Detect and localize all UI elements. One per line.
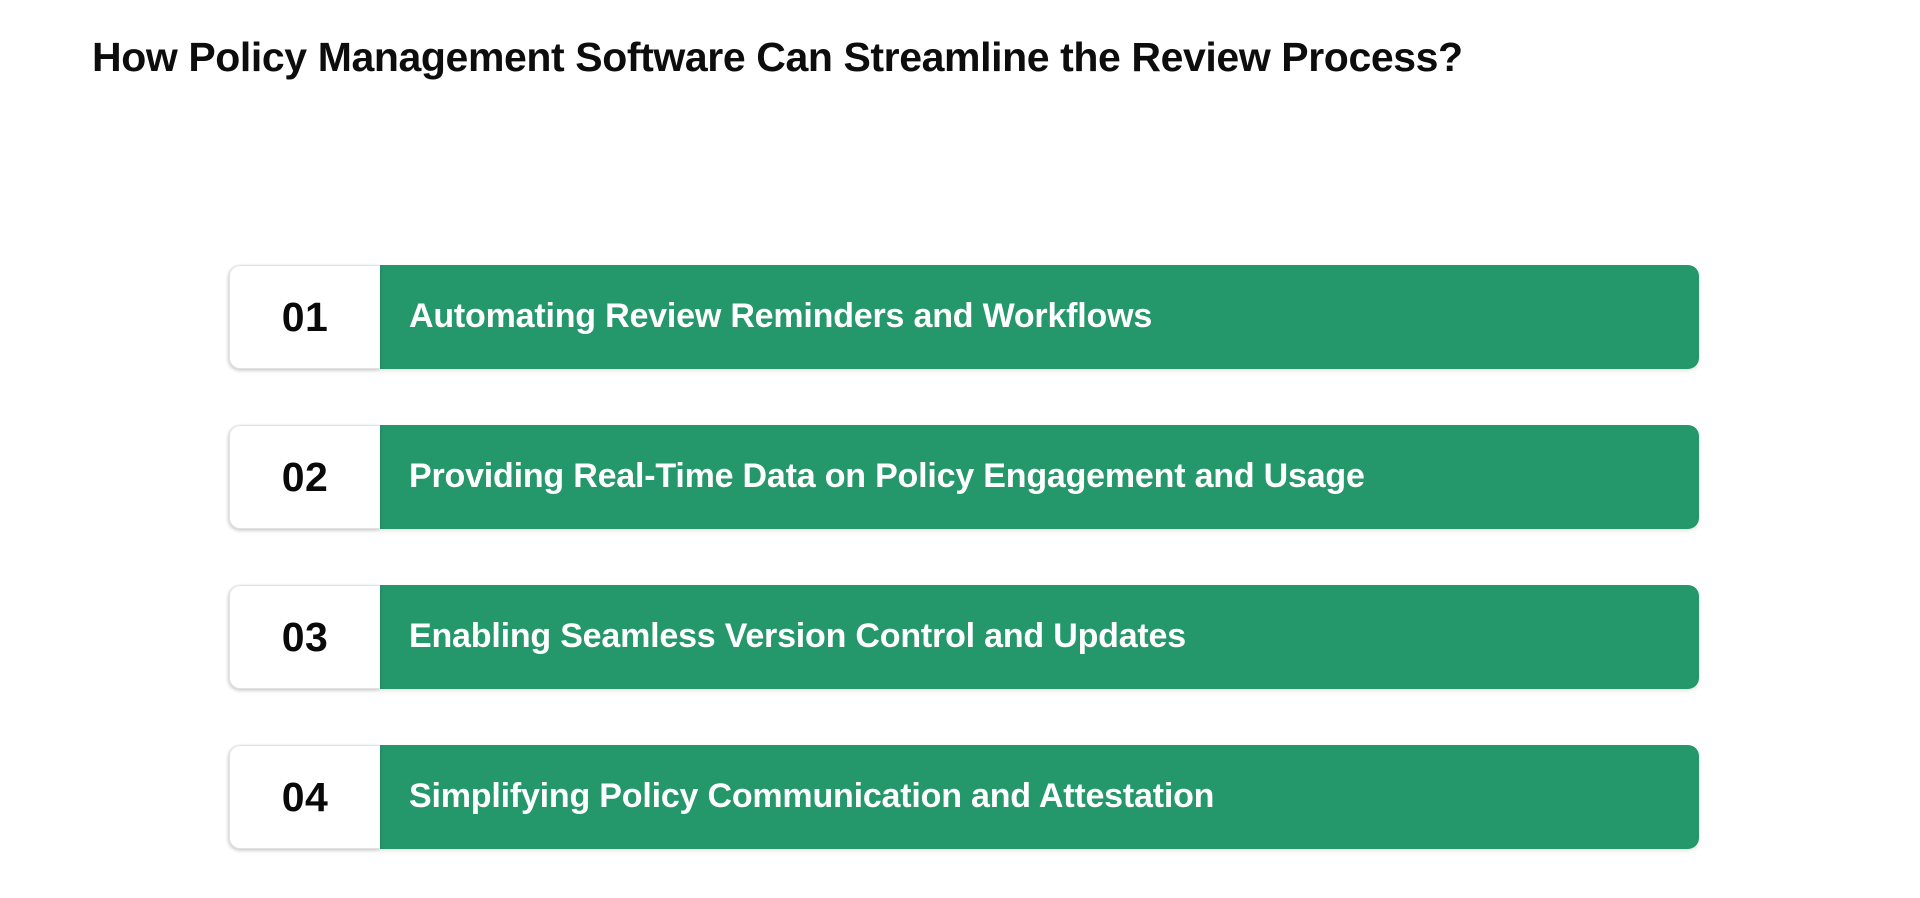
step-number-label: 02 bbox=[282, 457, 329, 498]
page-title: How Policy Management Software Can Strea… bbox=[92, 32, 1852, 83]
step-title-label: Enabling Seamless Version Control and Up… bbox=[409, 617, 1186, 656]
step-bar: Automating Review Reminders and Workflow… bbox=[380, 265, 1699, 369]
step-number-label: 04 bbox=[282, 777, 329, 818]
list-item: 04 Simplifying Policy Communication and … bbox=[229, 745, 1699, 849]
step-number-label: 01 bbox=[282, 297, 329, 338]
step-number-chip: 02 bbox=[229, 425, 380, 529]
list-item: 01 Automating Review Reminders and Workf… bbox=[229, 265, 1699, 369]
step-number-label: 03 bbox=[282, 617, 329, 658]
step-bar: Enabling Seamless Version Control and Up… bbox=[380, 585, 1699, 689]
step-number-chip: 04 bbox=[229, 745, 380, 849]
infographic-canvas: How Policy Management Software Can Strea… bbox=[0, 0, 1920, 898]
list-item: 02 Providing Real-Time Data on Policy En… bbox=[229, 425, 1699, 529]
step-number-chip: 01 bbox=[229, 265, 380, 369]
step-title-label: Providing Real-Time Data on Policy Engag… bbox=[409, 457, 1365, 496]
step-bar: Providing Real-Time Data on Policy Engag… bbox=[380, 425, 1699, 529]
step-title-label: Simplifying Policy Communication and Att… bbox=[409, 777, 1214, 816]
step-title-label: Automating Review Reminders and Workflow… bbox=[409, 297, 1152, 336]
steps-list: 01 Automating Review Reminders and Workf… bbox=[229, 265, 1699, 849]
list-item: 03 Enabling Seamless Version Control and… bbox=[229, 585, 1699, 689]
step-number-chip: 03 bbox=[229, 585, 380, 689]
step-bar: Simplifying Policy Communication and Att… bbox=[380, 745, 1699, 849]
